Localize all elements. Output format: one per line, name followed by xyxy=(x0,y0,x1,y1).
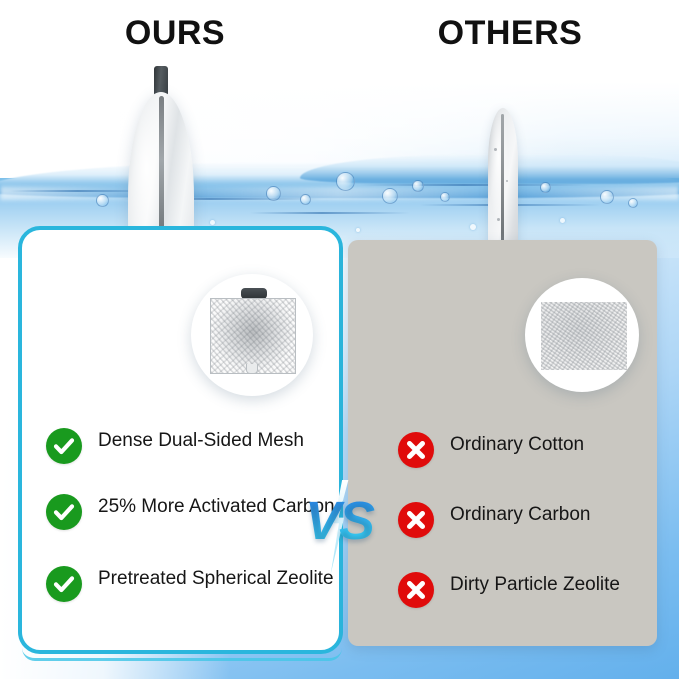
cartridge-speck xyxy=(494,148,497,151)
ours-feature-row: 25% More Activated Carbon xyxy=(46,494,335,530)
others-feature-row: Ordinary Carbon xyxy=(398,502,590,538)
water-droplet xyxy=(560,218,565,223)
closeup-notch xyxy=(246,364,258,374)
ours-feature-row: Dense Dual-Sided Mesh xyxy=(46,428,304,464)
water-bubble xyxy=(628,198,638,208)
others-feature-row: Ordinary Cotton xyxy=(398,432,584,468)
water-bubble xyxy=(412,180,424,192)
ours-header: OURS xyxy=(120,14,230,53)
water-bubble xyxy=(300,194,311,205)
vs-label: VS xyxy=(296,490,382,552)
water-bubble xyxy=(440,192,450,202)
water-bubble xyxy=(266,186,281,201)
water-droplet xyxy=(356,228,360,232)
cartridge-speck xyxy=(497,218,500,221)
closeup-mesh-texture xyxy=(541,302,627,370)
vs-badge: VS xyxy=(296,484,382,570)
check-circle-icon xyxy=(46,566,82,602)
closeup-mesh-texture xyxy=(210,298,296,374)
water-streak xyxy=(360,184,590,186)
feature-label: Ordinary Carbon xyxy=(450,502,590,527)
ours-panel-accent-line xyxy=(22,648,342,661)
feature-label: Dirty Particle Zeolite xyxy=(450,572,620,597)
check-circle-icon xyxy=(46,428,82,464)
ours-feature-row: Pretreated Spherical Zeolite xyxy=(46,566,334,602)
others-feature-row: Dirty Particle Zeolite xyxy=(398,572,620,608)
ours-closeup-inset xyxy=(191,274,313,396)
check-circle-icon xyxy=(46,494,82,530)
water-bubble xyxy=(540,182,551,193)
water-droplet xyxy=(470,224,476,230)
water-bubble xyxy=(336,172,355,191)
water-bubble xyxy=(96,194,109,207)
cartridge-speck xyxy=(506,180,508,182)
water-streak xyxy=(250,212,410,214)
others-header: OTHERS xyxy=(435,14,585,53)
cross-circle-icon xyxy=(398,502,434,538)
water-bubble xyxy=(382,188,398,204)
water-droplet xyxy=(210,220,215,225)
feature-label: Ordinary Cotton xyxy=(450,432,584,457)
cross-circle-icon xyxy=(398,432,434,468)
comparison-infographic: OURS OTHERS Dense Dual-Sided Mesh 25 xyxy=(0,0,679,679)
others-closeup-inset xyxy=(525,278,639,392)
cross-circle-icon xyxy=(398,572,434,608)
feature-label: Dense Dual-Sided Mesh xyxy=(98,428,304,453)
water-bubble xyxy=(600,190,614,204)
